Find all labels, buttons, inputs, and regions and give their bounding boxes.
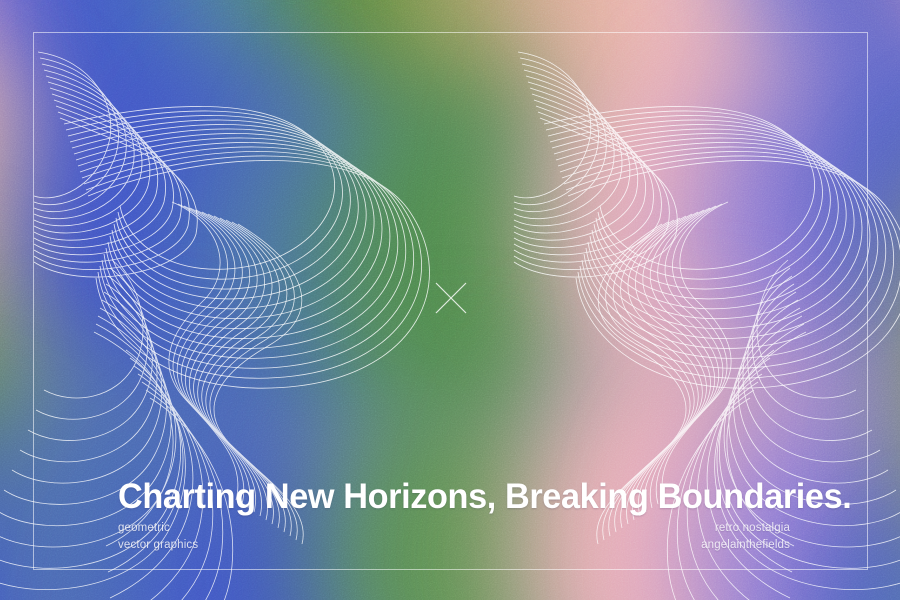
poster-canvas: Charting New Horizons, Breaking Boundari…: [0, 0, 900, 600]
meta-left-line-2: vector graphics: [118, 537, 198, 554]
meta-left: geometric vector graphics: [118, 520, 198, 555]
poster-title: Charting New Horizons, Breaking Boundari…: [118, 478, 766, 515]
caption-block: Charting New Horizons, Breaking Boundari…: [118, 478, 790, 555]
x-mark-icon: [434, 281, 468, 315]
meta-right-line-2: angelainthefields: [701, 537, 790, 554]
meta-left-line-1: geometric: [118, 520, 198, 537]
meta-right-line-1: retro nostalgia: [701, 520, 790, 537]
caption-meta-row: geometric vector graphics retro nostalgi…: [118, 520, 790, 555]
meta-right: retro nostalgia angelainthefields: [701, 520, 790, 555]
